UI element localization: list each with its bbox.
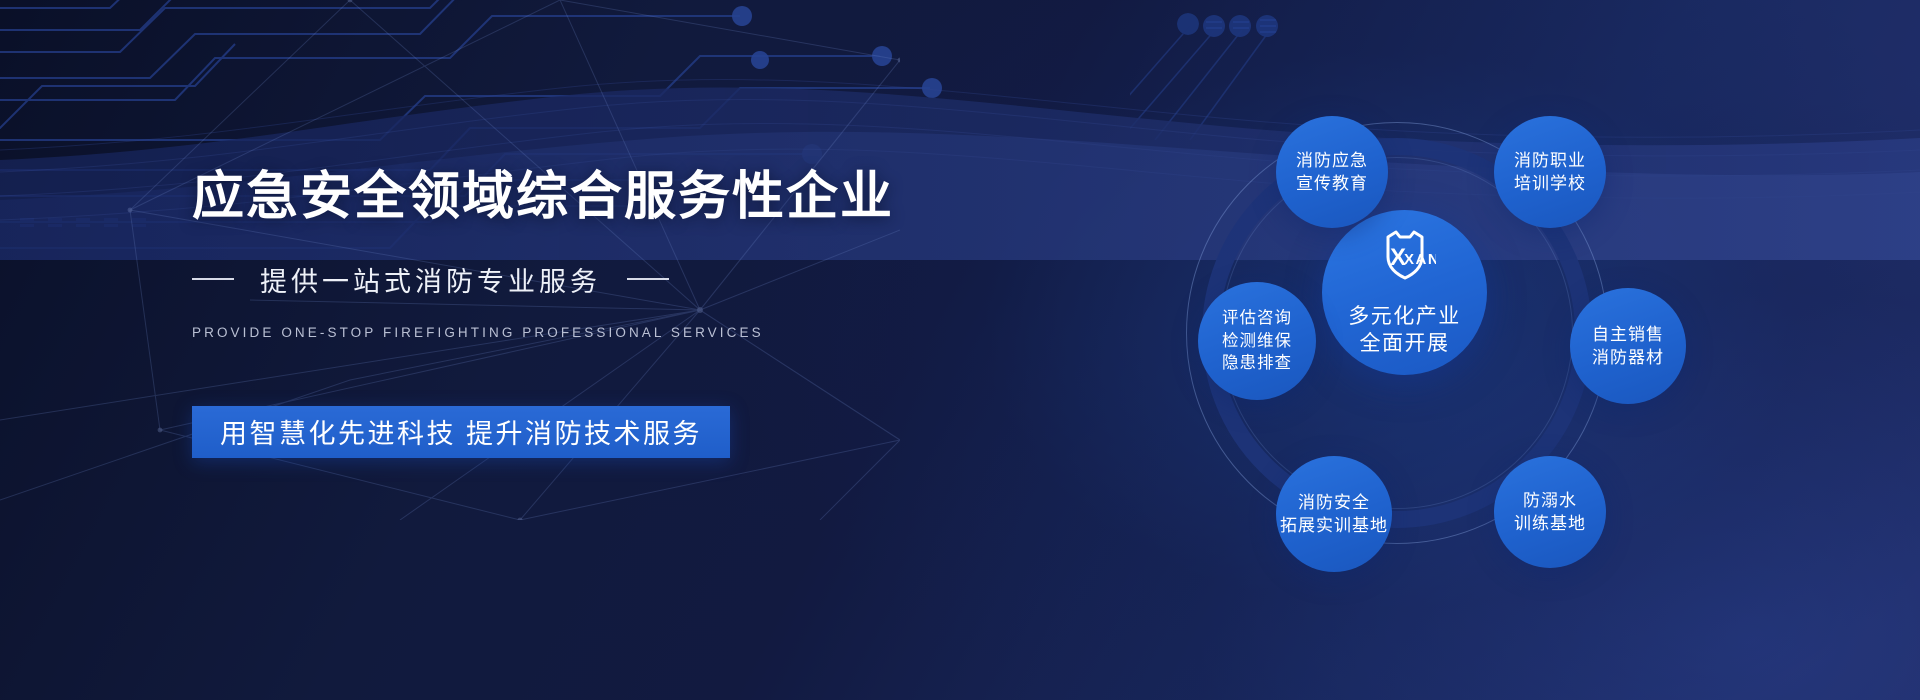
center-node-line1: 多元化产业 bbox=[1348, 303, 1461, 330]
subtitle-row: 提供一站式消防专业服务 bbox=[192, 260, 892, 299]
diagram-node-fire-vocational-school[interactable]: 消防职业 培训学校 bbox=[1494, 116, 1606, 228]
node-label-line3: 隐患排查 bbox=[1222, 352, 1292, 374]
node-label-line2: 检测维保 bbox=[1222, 330, 1292, 352]
hero-banner: 应急安全领域综合服务性企业 提供一站式消防专业服务 PROVIDE ONE-ST… bbox=[0, 0, 1920, 700]
diagram-node-fire-emergency-publicity[interactable]: 消防应急 宣传教育 bbox=[1276, 116, 1388, 228]
dash-right-decoration bbox=[627, 278, 669, 280]
node-label-line2: 消防器材 bbox=[1592, 346, 1664, 369]
node-label-line1: 消防职业 bbox=[1514, 149, 1586, 172]
node-label-line1: 消防安全 bbox=[1298, 491, 1370, 514]
subtitle: 提供一站式消防专业服务 bbox=[260, 260, 601, 299]
node-label-line2: 拓展实训基地 bbox=[1280, 514, 1388, 537]
svg-text:XAN: XAN bbox=[1404, 251, 1436, 268]
node-label-line2: 训练基地 bbox=[1514, 512, 1586, 535]
node-label-line1: 评估咨询 bbox=[1222, 307, 1292, 329]
node-label-line1: 防溺水 bbox=[1523, 489, 1577, 512]
services-circle-diagram: X XAN 多元化产业 全面开展 消防应急 宣传教育 消防职业 培训学校 评估咨… bbox=[1090, 60, 1790, 620]
center-node-line2: 全面开展 bbox=[1348, 330, 1461, 357]
page-title: 应急安全领域综合服务性企业 bbox=[192, 168, 892, 228]
node-label-line2: 宣传教育 bbox=[1296, 172, 1368, 195]
diagram-node-safety-training-base[interactable]: 消防安全 拓展实训基地 bbox=[1276, 456, 1392, 572]
cta-button[interactable]: 用智慧化先进科技 提升消防技术服务 bbox=[192, 406, 730, 458]
english-subtitle: PROVIDE ONE-STOP FIREFIGHTING PROFESSION… bbox=[192, 325, 892, 340]
xan-shield-logo: X XAN bbox=[1374, 227, 1436, 296]
diagram-node-assessment-inspection[interactable]: 评估咨询 检测维保 隐患排查 bbox=[1198, 282, 1316, 400]
dash-left-decoration bbox=[192, 278, 234, 280]
diagram-center-node[interactable]: X XAN 多元化产业 全面开展 bbox=[1322, 210, 1487, 375]
node-label-line2: 培训学校 bbox=[1514, 172, 1586, 195]
diagram-node-anti-drowning-base[interactable]: 防溺水 训练基地 bbox=[1494, 456, 1606, 568]
diagram-node-equipment-sales[interactable]: 自主销售 消防器材 bbox=[1570, 288, 1686, 404]
node-label-line1: 自主销售 bbox=[1592, 323, 1664, 346]
hero-text-block: 应急安全领域综合服务性企业 提供一站式消防专业服务 PROVIDE ONE-ST… bbox=[192, 168, 892, 458]
node-label-line1: 消防应急 bbox=[1296, 149, 1368, 172]
